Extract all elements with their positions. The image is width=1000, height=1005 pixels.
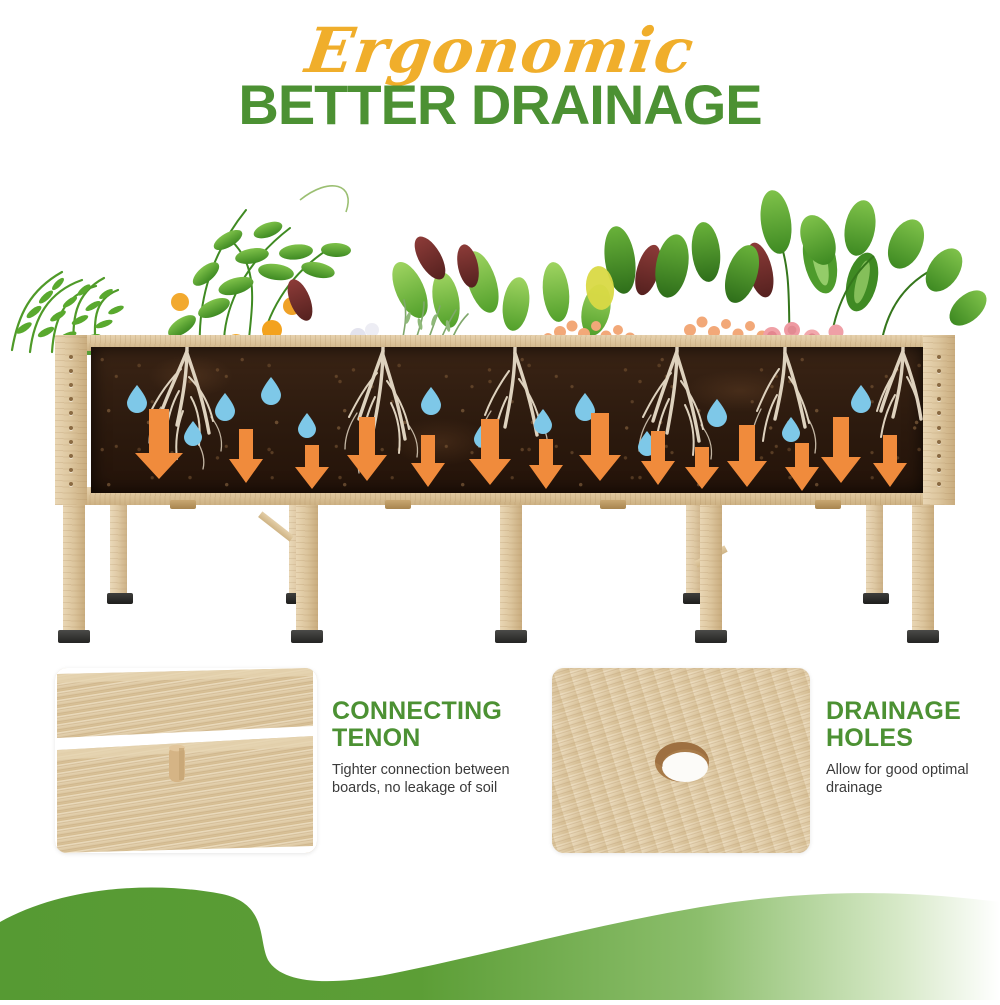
planter-left-post — [55, 335, 87, 505]
feature-section: CONNECTINGTENON Tighter connection betwe… — [0, 660, 1000, 860]
planter-leg-front — [63, 505, 85, 633]
leg-foot-cap — [58, 630, 90, 643]
feature-title: CONNECTINGTENON — [332, 698, 547, 752]
leg-foot-cap-back — [107, 593, 133, 604]
feature-text-drainage-holes: DRAINAGEHOLES Allow for good optimal dra… — [826, 698, 986, 798]
leg-foot-cap — [695, 630, 727, 643]
feature-description: Tighter connection between boards, no le… — [332, 761, 547, 798]
feature-image-connecting-tenon — [55, 668, 317, 853]
planter-leg-back — [866, 505, 883, 595]
broadleaf-cluster — [282, 221, 883, 339]
product-illustration — [0, 140, 1000, 660]
screw-holes-left — [55, 349, 87, 491]
leg-foot-cap — [291, 630, 323, 643]
planter-leg-back — [110, 505, 127, 595]
planter-leg-front — [500, 505, 522, 633]
planter-leg-front — [700, 505, 722, 633]
dowel-peg — [169, 745, 185, 782]
planter-box — [55, 335, 955, 505]
soil-cross-section — [91, 347, 923, 493]
header-banner: Ergonomic BETTER DRAINAGE — [0, 0, 1000, 140]
footer-wave-decoration — [0, 862, 1000, 1000]
page-title: BETTER DRAINAGE — [0, 72, 1000, 137]
planter-leg-front — [912, 505, 934, 633]
feature-description: Allow for good optimal drainage — [826, 761, 986, 798]
leg-foot-cap — [907, 630, 939, 643]
leg-foot-cap-back — [863, 593, 889, 604]
drainage-hole — [655, 742, 709, 782]
feature-image-drainage-holes — [552, 668, 810, 853]
citrus-plant — [112, 186, 351, 355]
planter-right-post — [923, 335, 955, 505]
leg-foot-cap — [495, 630, 527, 643]
plant-foliage — [0, 140, 1000, 350]
feature-title: DRAINAGEHOLES — [826, 698, 986, 752]
screw-holes-right — [923, 349, 955, 491]
feature-text-connecting-tenon: CONNECTINGTENON Tighter connection betwe… — [332, 698, 547, 798]
planter-legs — [0, 505, 1000, 660]
planter-leg-front — [296, 505, 318, 633]
